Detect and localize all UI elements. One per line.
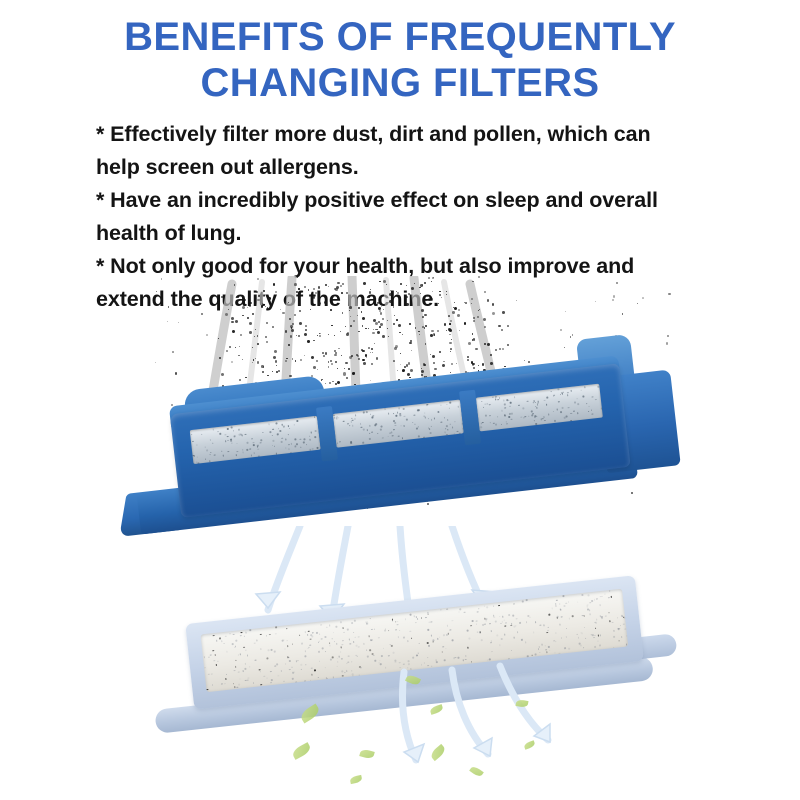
dust-speck [446,294,447,295]
mesh-speck [227,436,229,438]
mesh-speck [354,620,356,622]
mesh-speck [596,619,598,621]
mesh-speck [352,420,354,422]
mesh-speck [559,652,561,654]
mesh-speck [499,397,501,399]
dust-speck [477,316,479,318]
mesh-speck [243,647,245,649]
mesh-speck [560,637,562,639]
mesh-speck [584,615,586,617]
mesh-speck [599,644,601,646]
dust-speck [386,284,387,285]
mesh-speck [550,391,552,393]
mesh-speck [516,618,518,620]
mesh-speck [537,648,539,650]
mesh-speck [485,620,487,622]
mesh-speck [599,604,601,606]
mesh-speck [547,626,549,628]
mesh-speck [513,603,515,605]
mesh-speck [593,637,595,639]
mesh-speck [592,396,594,398]
mesh-speck [400,425,402,427]
mesh-speck [574,402,576,404]
mesh-speck [451,620,453,622]
dust-speck [411,287,414,290]
mesh-speck [587,604,589,606]
mesh-speck [336,626,338,628]
mesh-speck [416,616,418,618]
mesh-speck [366,649,368,651]
mesh-speck [220,433,222,435]
dust-speck [357,355,359,357]
mesh-speck [445,648,447,650]
mesh-speck [276,423,278,425]
mesh-speck [314,436,316,438]
mesh-speck [260,442,262,444]
mesh-speck [396,415,398,417]
mesh-speck [238,429,240,431]
mesh-speck [292,643,294,645]
mesh-speck [429,621,431,623]
mesh-speck [605,615,607,617]
mesh-speck [371,431,373,433]
mesh-speck [355,415,357,417]
mesh-speck [222,455,224,457]
mesh-speck [430,621,432,623]
mesh-speck [242,451,244,453]
dust-speck [394,315,395,316]
mesh-speck [440,421,442,423]
mesh-speck [393,413,395,415]
mesh-speck [444,659,446,661]
mesh-speck [236,443,238,445]
dust-speck [376,357,379,360]
mesh-speck [329,642,331,644]
mesh-speck [572,615,574,617]
mesh-speck [504,404,506,406]
mesh-speck [196,444,198,446]
mesh-speck [319,633,321,635]
mesh-speck [557,388,559,390]
mesh-speck [209,454,211,456]
dust-speck [370,352,371,353]
mesh-speck [481,401,483,403]
mesh-speck [354,418,356,420]
dust-speck [454,302,455,303]
mesh-speck [500,622,502,624]
mesh-speck [404,416,406,418]
mesh-speck [506,423,508,425]
mesh-speck [363,429,365,431]
mesh-speck [510,650,512,652]
dust-speck [249,322,252,325]
mesh-speck [599,635,601,637]
mesh-speck [281,424,283,426]
mesh-speck [260,648,262,650]
mesh-speck [577,412,579,414]
mesh-speck [443,634,445,636]
mesh-speck [546,404,548,406]
dust-speck [295,360,297,362]
mesh-speck [624,617,626,619]
dust-speck [472,339,474,341]
mesh-speck [508,416,510,418]
mesh-speck [381,655,383,657]
mesh-speck [582,594,584,596]
mesh-speck [489,623,491,625]
mesh-speck [455,657,457,659]
mesh-speck [369,425,371,427]
mesh-speck [358,646,360,648]
mesh-speck [341,658,343,660]
dust-speck [346,292,348,294]
mesh-speck [485,415,487,417]
mesh-speck [565,636,567,638]
mesh-speck [524,416,526,418]
dust-speck [242,306,245,309]
mesh-speck [517,632,519,634]
mesh-speck [625,646,627,648]
mesh-speck [337,442,339,444]
mesh-speck [375,423,377,425]
dust-speck [235,347,236,348]
mesh-speck [482,407,484,409]
mesh-speck [567,394,569,396]
dust-speck [261,365,263,367]
mesh-speck [609,590,611,592]
mesh-speck [570,390,572,392]
mesh-speck [369,438,371,440]
mesh-speck [333,414,335,416]
mesh-speck [510,402,512,404]
mesh-speck [567,392,569,394]
mesh-speck [564,647,566,649]
dust-speck [268,297,271,300]
mesh-speck [568,618,570,620]
mesh-speck [458,611,460,613]
mesh-speck [503,400,505,402]
mesh-speck [353,631,355,633]
mesh-speck [533,632,535,634]
mesh-speck [348,655,350,657]
mesh-speck [559,624,561,626]
mesh-speck [505,625,507,627]
mesh-speck [435,659,437,661]
mesh-speck [350,441,352,443]
mesh-speck [580,645,582,647]
mesh-speck [555,632,557,634]
mesh-speck [588,405,590,407]
dust-speck [379,326,381,328]
mesh-speck [580,389,582,391]
mesh-speck [464,612,466,614]
mesh-speck [484,605,486,607]
dust-speck [414,283,415,284]
mesh-speck [560,411,562,413]
mesh-speck [377,432,379,434]
dust-speck [319,335,321,337]
mesh-speck [508,658,510,660]
mesh-speck [610,596,612,598]
mesh-speck [613,647,615,649]
mesh-speck [467,647,469,649]
mesh-speck [275,627,277,629]
dust-speck [291,329,294,332]
mesh-speck [537,402,539,404]
mesh-speck [212,429,214,431]
mesh-speck [410,631,412,633]
mesh-speck [245,649,247,651]
dust-speck [313,366,316,369]
dust-speck [347,332,349,334]
mesh-speck [576,398,578,400]
mesh-speck [272,434,274,436]
mesh-speck [392,435,394,437]
mesh-speck [450,402,452,404]
mesh-speck [243,635,245,637]
mesh-speck [597,640,599,642]
mesh-speck [394,422,396,424]
mesh-speck [453,433,455,435]
mesh-speck [446,404,448,406]
mesh-speck [213,635,215,637]
mesh-speck [536,407,538,409]
mesh-speck [387,436,389,438]
mesh-speck [443,417,445,419]
dust-speck [570,336,572,338]
mesh-speck [285,447,287,449]
mesh-speck [418,653,420,655]
mesh-speck [413,615,415,617]
mesh-speck [546,397,548,399]
mesh-speck [382,437,384,439]
mesh-speck [397,621,399,623]
dust-speck [425,300,427,302]
mesh-speck [462,660,464,662]
mesh-speck [219,637,221,639]
mesh-speck [551,607,553,609]
mesh-speck [503,619,505,621]
mesh-speck [347,629,349,631]
mesh-speck [431,634,433,636]
mesh-speck [305,655,307,657]
mesh-speck [349,425,351,427]
mesh-speck [223,643,225,645]
dust-speck [415,327,416,328]
mesh-speck [210,654,212,656]
mesh-speck [501,424,503,426]
mesh-speck [208,656,210,658]
mesh-speck [554,420,556,422]
dust-speck [257,343,259,345]
mesh-speck [512,615,514,617]
mesh-speck [351,622,353,624]
mesh-speck [320,624,322,626]
dust-speck [257,335,259,337]
mesh-speck [343,632,345,634]
mesh-speck [418,410,420,412]
page-title: BENEFITS OF FREQUENTLY CHANGING FILTERS [0,14,800,106]
mesh-speck [441,651,443,653]
mesh-speck [457,406,459,408]
mesh-speck [388,655,390,657]
mesh-speck [486,403,488,405]
mesh-speck [241,435,243,437]
mesh-speck [309,449,311,451]
mesh-speck [457,657,459,659]
mesh-speck [469,638,471,640]
dust-speck [428,277,430,279]
mesh-speck [546,651,548,653]
mesh-speck [418,436,420,438]
mesh-speck [272,429,274,431]
mesh-speck [384,630,386,632]
dust-speck [282,312,284,314]
mesh-speck [549,649,551,651]
mesh-speck [510,625,512,627]
mesh-speck [535,416,537,418]
mesh-speck [427,657,429,659]
dust-speck [225,313,228,316]
mesh-speck [362,442,364,444]
mesh-speck [476,631,478,633]
mesh-speck [305,650,307,652]
mesh-speck [495,423,497,425]
mesh-speck [241,632,243,634]
mesh-speck [237,654,239,656]
mesh-speck [480,426,482,428]
mesh-speck [613,636,615,638]
mesh-speck [251,438,253,440]
mesh-speck [599,616,601,618]
mesh-speck [601,616,603,618]
dust-speck [498,325,501,328]
mesh-speck [233,430,235,432]
mesh-speck [540,624,542,626]
mesh-speck [504,407,506,409]
mesh-speck [363,643,365,645]
mesh-speck [566,416,568,418]
dust-speck [380,323,383,326]
mesh-speck [596,598,598,600]
mesh-speck [331,638,333,640]
mesh-speck [511,418,513,420]
mesh-speck [279,430,281,432]
dust-speck [507,325,509,327]
dust-speck [340,285,341,286]
mesh-speck [393,652,395,654]
mesh-speck [577,601,579,603]
mesh-speck [506,399,508,401]
mesh-speck [493,422,495,424]
mesh-speck [478,608,480,610]
dust-speck [424,314,427,317]
mesh-speck [491,651,493,653]
mesh-speck [291,443,293,445]
mesh-speck [578,637,580,639]
mesh-speck [527,656,529,658]
mesh-speck [447,625,449,627]
dust-speck [294,283,297,286]
mesh-speck [475,623,477,625]
mesh-speck [495,398,497,400]
dust-speck [257,361,259,363]
mesh-speck [583,647,585,649]
dust-speck [421,309,424,312]
dust-speck [492,303,495,306]
mesh-speck [531,654,533,656]
mesh-speck [585,637,587,639]
mesh-speck [538,646,540,648]
dust-speck [305,325,307,327]
mesh-speck [214,654,216,656]
mesh-speck [308,631,310,633]
dust-speck [328,286,329,287]
dust-speck [387,320,388,321]
mesh-speck [236,640,238,642]
mesh-speck [587,609,589,611]
mesh-speck [419,643,421,645]
mesh-speck [367,656,369,658]
mesh-speck [232,643,234,645]
dust-speck [637,303,638,304]
mesh-speck [317,447,319,449]
dust-speck [379,281,381,283]
mesh-speck [354,636,356,638]
mesh-speck [192,441,194,443]
mesh-speck [416,428,418,430]
mesh-speck [544,420,546,422]
mesh-speck [269,431,271,433]
mesh-speck [427,613,429,615]
dust-speck [252,347,253,348]
mesh-speck [588,595,590,597]
mesh-speck [496,635,498,637]
dust-speck [393,323,395,325]
mesh-speck [334,417,336,419]
mesh-speck [624,628,626,630]
mesh-speck [588,411,590,413]
mesh-speck [350,643,352,645]
mesh-speck [380,429,382,431]
mesh-speck [309,436,311,438]
dust-speck [374,343,375,344]
dust-speck [334,288,336,290]
mesh-speck [446,425,448,427]
mesh-speck [257,446,259,448]
mesh-speck [306,444,308,446]
mesh-speck [294,439,296,441]
mesh-speck [528,415,530,417]
dust-speck [324,301,327,304]
mesh-speck [333,641,335,643]
mesh-speck [214,454,216,456]
mesh-speck [424,412,426,414]
mesh-speck [525,642,527,644]
mesh-speck [367,429,369,431]
mesh-speck [560,609,562,611]
mesh-speck [406,419,408,421]
mesh-speck [479,631,481,633]
mesh-speck [257,448,259,450]
mesh-speck [515,625,517,627]
mesh-speck [371,629,373,631]
mesh-speck [352,425,354,427]
mesh-speck [338,656,340,658]
mesh-speck [369,649,371,651]
dust-speck [396,319,398,321]
dust-speck [299,322,302,325]
